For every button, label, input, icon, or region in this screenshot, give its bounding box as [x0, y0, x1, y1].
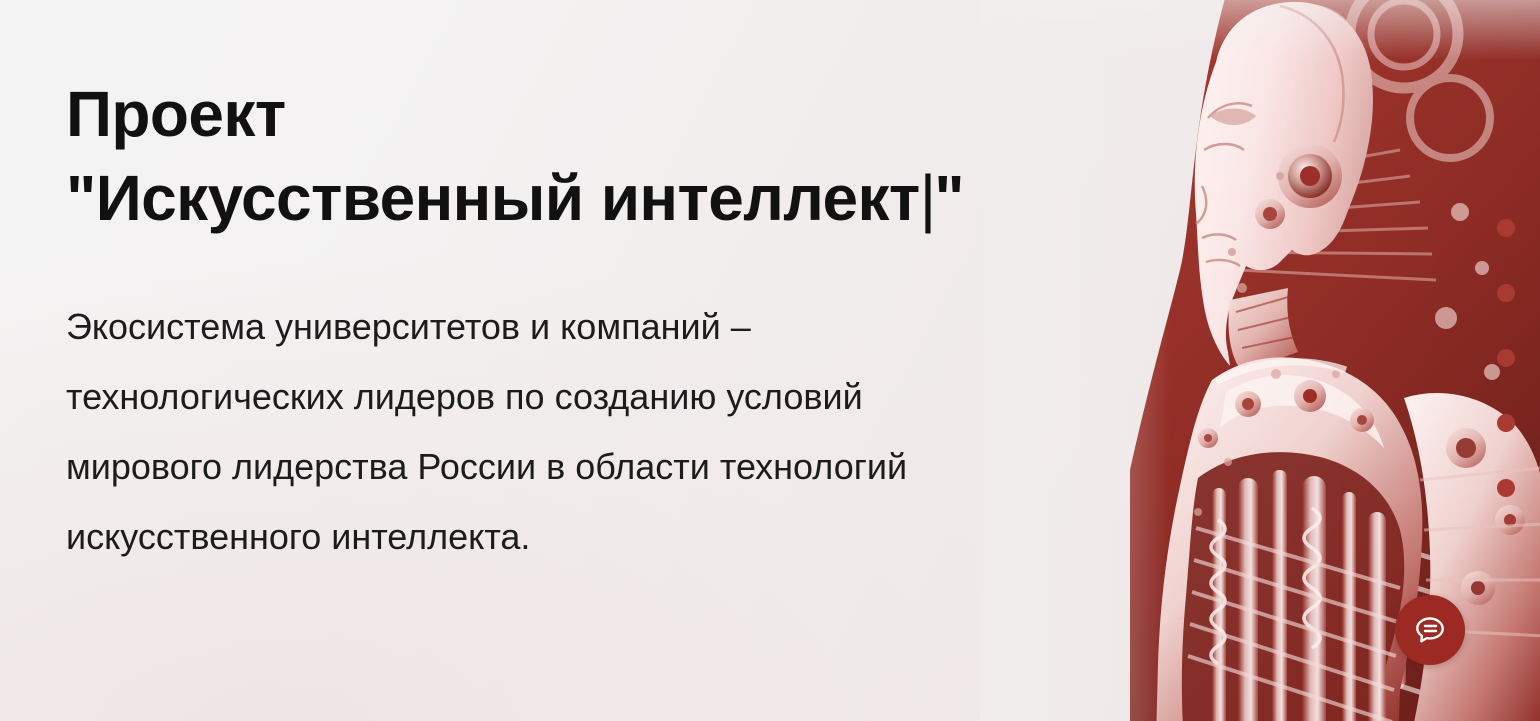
pagination-dot-2[interactable]: [1497, 284, 1515, 302]
headline-line-2-end: ": [934, 162, 964, 234]
pagination-dot-5[interactable]: [1497, 479, 1515, 497]
headline-line-1: Проект: [66, 78, 286, 150]
pagination-dot-1[interactable]: [1497, 219, 1515, 237]
page-title: Проект "Искусственный интеллект|": [66, 72, 966, 240]
slider-pagination: [1497, 219, 1515, 497]
pagination-dot-4[interactable]: [1497, 414, 1515, 432]
hero-section: Проект "Искусственный интеллект|" Экосис…: [0, 0, 1540, 721]
text-cursor: |: [920, 162, 935, 234]
hero-content: Проект "Искусственный интеллект|" Экосис…: [66, 72, 966, 572]
chat-bubble-icon: [1410, 610, 1450, 650]
headline-line-2: "Искусственный интеллект: [66, 162, 920, 234]
chat-button[interactable]: [1395, 595, 1465, 665]
hero-description: Экосистема университетов и компаний – те…: [66, 292, 946, 572]
pagination-dot-3[interactable]: [1497, 349, 1515, 367]
